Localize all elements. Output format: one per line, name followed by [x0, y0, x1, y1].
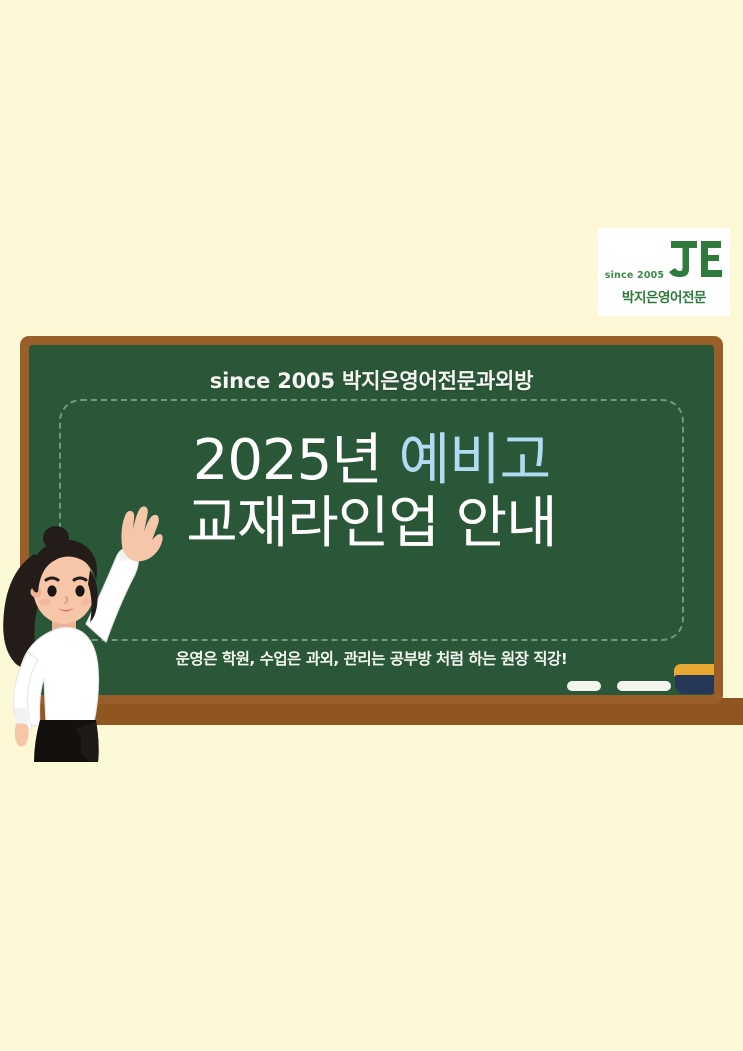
- eraser-bottom: [675, 675, 714, 694]
- chalkboard-face: since 2005 박지은영어전문과외방 2025년 예비고 교재라인업 안내…: [29, 345, 714, 695]
- chalk-stick-1: [567, 681, 601, 691]
- chalk-stick-2: [617, 681, 671, 691]
- board-title-line-1: 2025년 예비고: [186, 429, 556, 492]
- board-eraser-icon: [674, 664, 714, 692]
- brand-logo-top-row: since 2005: [612, 239, 716, 284]
- brand-logo-card: since 2005 박지은영어전문: [598, 228, 730, 316]
- chalkboard: since 2005 박지은영어전문과외방 2025년 예비고 교재라인업 안내…: [20, 336, 723, 704]
- board-title-line-2: 교재라인업 안내: [186, 492, 556, 555]
- chalkboard-frame: since 2005 박지은영어전문과외방 2025년 예비고 교재라인업 안내…: [20, 336, 723, 704]
- board-title: 2025년 예비고 교재라인업 안내: [186, 429, 556, 556]
- board-title-highlight: 예비고: [399, 428, 551, 493]
- brand-logo: since 2005 박지은영어전문: [612, 239, 716, 306]
- je-monogram-icon: [667, 239, 723, 284]
- chalkboard-content: since 2005 박지은영어전문과외방 2025년 예비고 교재라인업 안내…: [29, 345, 714, 695]
- board-eyebrow-text: since 2005 박지은영어전문과외방: [210, 365, 533, 395]
- board-title-year: 2025년: [193, 428, 399, 493]
- board-subtitle: 운영은 학원, 수업은 과외, 관리는 공부방 처럼 하는 원장 직강!: [29, 647, 714, 669]
- brand-since-label: since 2005: [605, 270, 665, 284]
- brand-korean-name: 박지은영어전문: [622, 286, 706, 306]
